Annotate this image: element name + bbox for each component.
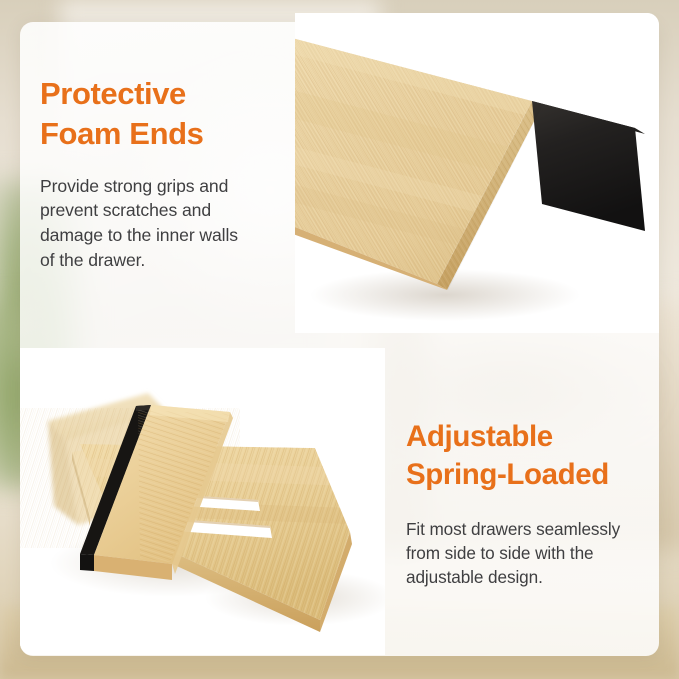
feature-text-adjustable-spring-loaded: Adjustable Spring-Loaded Fit most drawer…: [406, 418, 656, 589]
feature-body: Fit most drawers seamlessly from side to…: [406, 495, 656, 590]
infographic-stage: Protective Foam Ends Provide strong grip…: [0, 0, 679, 679]
bamboo-board-illustration: [295, 13, 659, 333]
photo-protective-foam-ends: [295, 13, 659, 333]
feature-headline: Protective Foam Ends: [40, 74, 290, 155]
feature-text-protective-foam-ends: Protective Foam Ends Provide strong grip…: [40, 74, 290, 273]
photo-adjustable-spring-loaded: [20, 348, 385, 655]
feature-body: Provide strong grips and prevent scratch…: [40, 155, 290, 273]
drawer-divider-illustration: [20, 348, 385, 655]
feature-headline: Adjustable Spring-Loaded: [406, 418, 656, 495]
